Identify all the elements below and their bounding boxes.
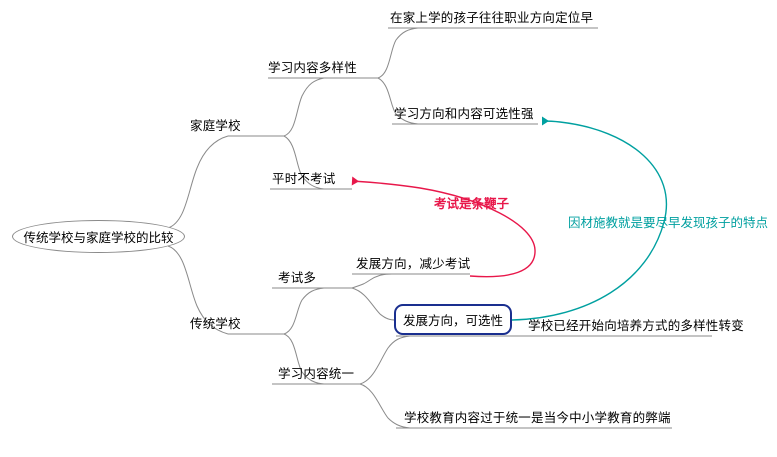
edge-exams-to-selected	[352, 288, 396, 320]
node-learning-diversity[interactable]: 学习内容多样性	[268, 61, 357, 76]
node-development-optionality-selected[interactable]: 发展方向，可选性	[394, 304, 512, 335]
mindmap-canvas[interactable]: 传统学校与家庭学校的比较 家庭学校 传统学校 学习内容多样性 平时不考试 在家上…	[0, 0, 777, 457]
edge-uniform-to-transform	[360, 336, 410, 384]
edge-traditional-to-many-exams	[284, 288, 324, 334]
edge-home-to-diversity	[284, 78, 324, 136]
root-node[interactable]: 传统学校与家庭学校的比较	[12, 220, 185, 253]
edge-root-to-home-school	[168, 136, 228, 228]
node-traditional-school[interactable]: 传统学校	[190, 317, 241, 332]
root-node-label: 传统学校与家庭学校的比较	[23, 227, 173, 246]
node-uniformity-drawback[interactable]: 学校教育内容过于统一是当今中小学教育的弊端	[404, 411, 671, 426]
edge-diversity-to-career	[378, 28, 418, 78]
annotation-label-teach-by-aptitude[interactable]: 因材施教就是要尽早发现孩子的特点	[568, 212, 768, 231]
annotation-label-exam-whip[interactable]: 考试是条鞭子	[434, 193, 509, 212]
node-no-regular-exams[interactable]: 平时不考试	[272, 172, 336, 187]
node-uniform-content[interactable]: 学习内容统一	[278, 367, 354, 382]
node-reduce-exams[interactable]: 发展方向，减少考试	[356, 257, 470, 272]
node-many-exams[interactable]: 考试多	[278, 271, 316, 286]
edge-exams-to-reduce	[352, 274, 392, 288]
node-strong-optionality[interactable]: 学习方向和内容可选性强	[394, 107, 534, 122]
node-school-diversity-shift[interactable]: 学校已经开始向培养方式的多样性转变	[528, 319, 744, 334]
node-early-career-orientation[interactable]: 在家上学的孩子往往职业方向定位早	[390, 11, 593, 26]
node-home-school[interactable]: 家庭学校	[190, 119, 241, 134]
selected-node-label: 发展方向，可选性	[403, 310, 503, 329]
edge-uniform-to-drawback	[360, 384, 410, 428]
